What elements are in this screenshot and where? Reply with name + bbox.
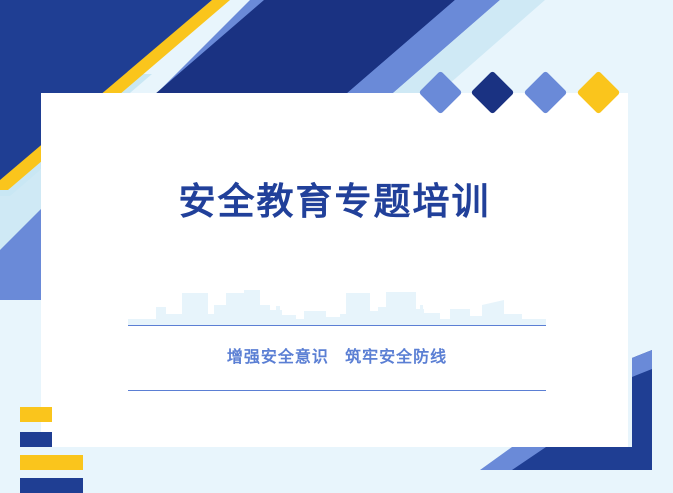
page-subtitle: 增强安全意识 筑牢安全防线 xyxy=(128,343,546,367)
divider-top xyxy=(128,325,546,326)
page-title: 安全教育专题培训 xyxy=(41,182,628,223)
content-card xyxy=(41,93,628,447)
slide-canvas: 安全教育专题培训 xyxy=(0,0,673,493)
bar-yellow-wide xyxy=(20,455,83,470)
city-skyline-icon xyxy=(128,281,546,326)
bar-navy-wide xyxy=(20,478,83,493)
bar-yellow-small xyxy=(20,407,52,422)
bar-navy-small xyxy=(20,432,52,447)
navy-bottom-bar-icon xyxy=(512,447,652,470)
blue-diagonal-accent-icon xyxy=(480,447,546,470)
divider-bottom xyxy=(128,390,546,391)
navy-right-column-icon xyxy=(632,350,652,470)
blue-column-cap-icon xyxy=(632,350,652,377)
